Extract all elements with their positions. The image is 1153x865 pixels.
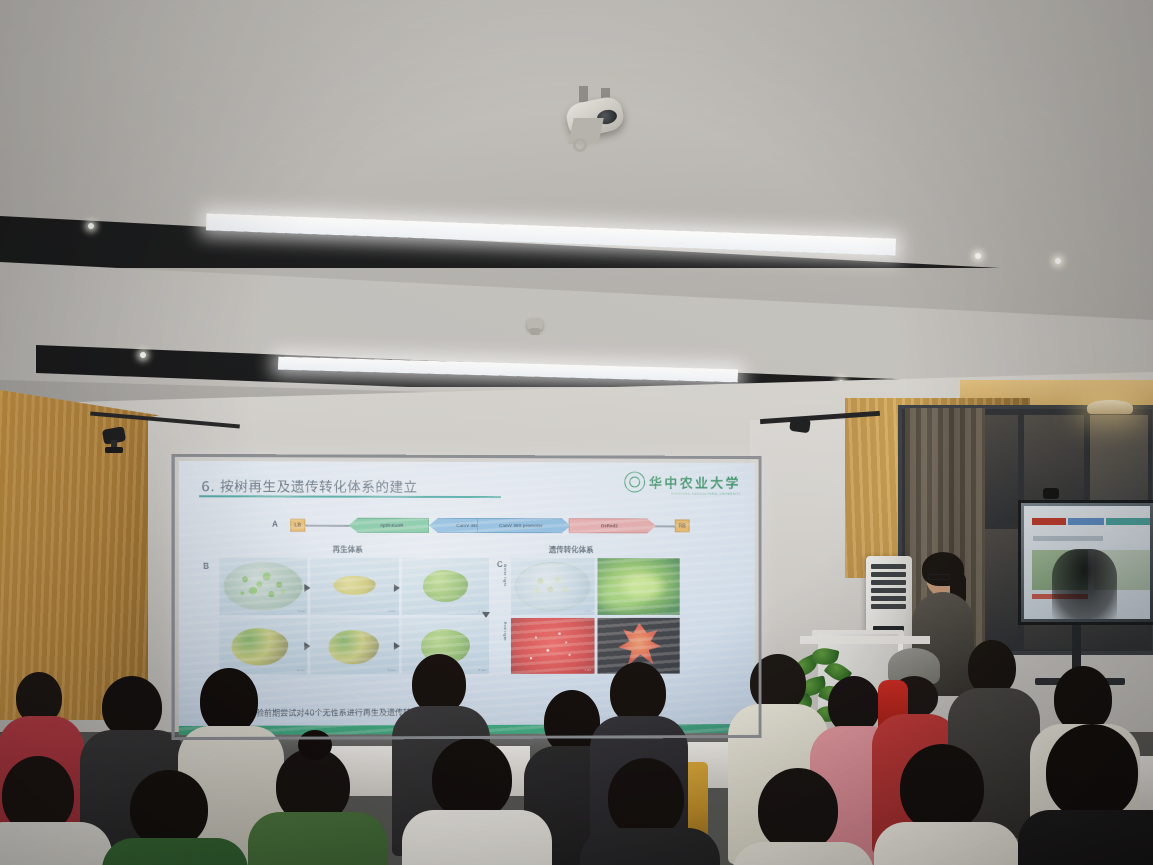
- ceiling-spot-light: [88, 223, 94, 229]
- smoke-detector: [527, 318, 543, 330]
- tv-slide-text: [1033, 536, 1103, 541]
- lecture-hall-scene: 6. 按树再生及遗传转化体系的建立 华中农业大学 HUAZHONG AGRICU…: [0, 0, 1153, 865]
- projection-screen-frame: [172, 454, 762, 740]
- tv-slide-bar: [1068, 518, 1104, 525]
- ceiling-spot-light: [975, 253, 981, 259]
- wall-lamp: [1087, 400, 1133, 414]
- presenter-glasses-icon: [928, 574, 950, 580]
- window-camera-icon: [1043, 488, 1059, 499]
- track-spotlight-right[interactable]: [789, 417, 811, 434]
- tv-slide-bar: [1032, 518, 1066, 525]
- tv-slide-bar: [1106, 518, 1150, 525]
- secondary-display-slide: [1024, 506, 1150, 619]
- ceiling-spot-light: [1055, 258, 1061, 264]
- ceiling-spot-light: [140, 352, 146, 358]
- secondary-display[interactable]: [1018, 500, 1153, 625]
- tv-reflection-silhouette: [1052, 549, 1118, 619]
- shelf: [800, 636, 930, 644]
